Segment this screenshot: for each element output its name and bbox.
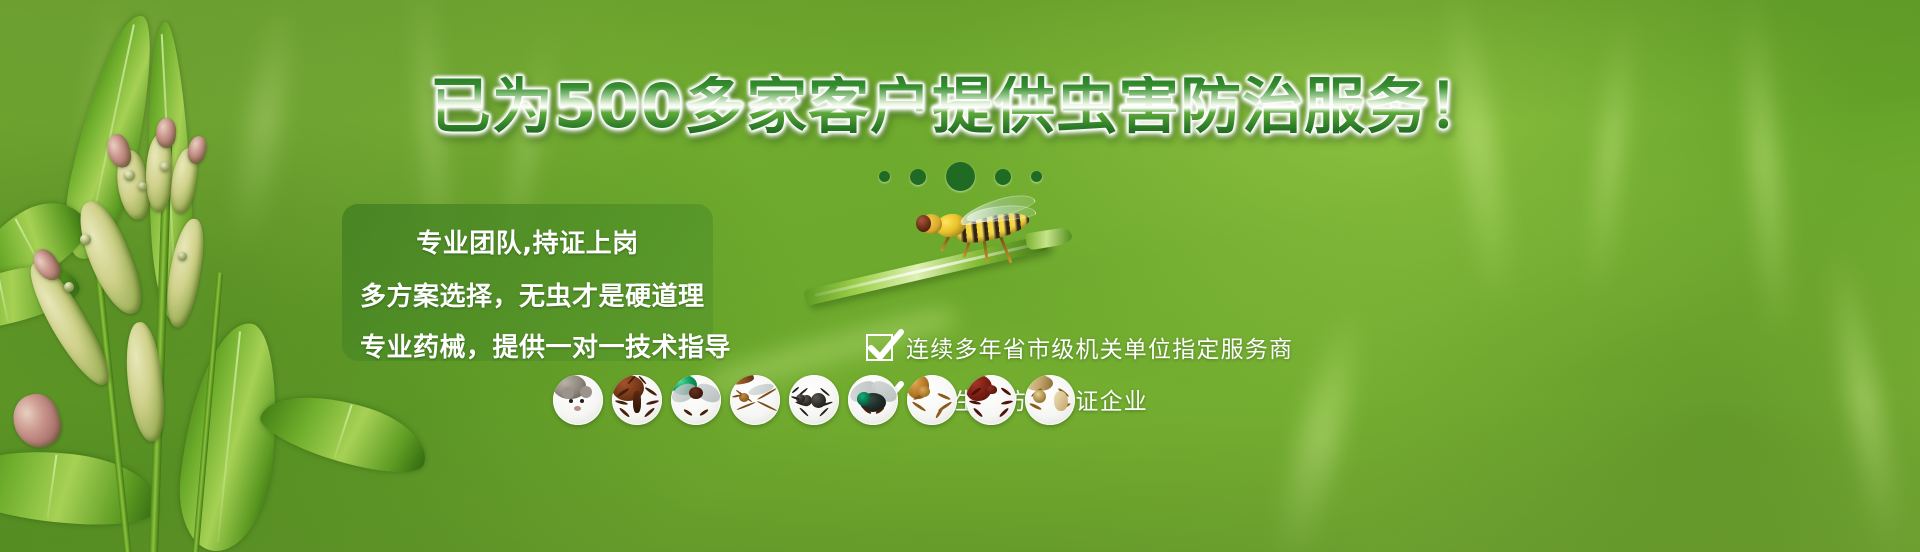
dot-small-left [879,171,890,182]
leaf-blade [803,234,1050,306]
checkbox-checked-icon [866,334,893,361]
green-fly-icon[interactable] [671,375,721,425]
selling-point-line-1: 专业团队,持证上岗 [360,231,695,257]
hoverfly-on-leaf-stem [790,196,1120,326]
leaf-blade-tip [1025,227,1073,251]
house-fly-icon[interactable] [848,375,898,425]
flea-icon[interactable] [907,375,957,425]
bed-bug-icon[interactable] [966,375,1016,425]
pest-type-icon-row [553,375,1075,425]
selling-points-box: 专业团队,持证上岗 多方案选择，无虫才是硬道理 专业药械，提供一对一技术指导 [342,204,713,361]
dot-medium-right [995,169,1011,185]
hoverfly-eye [916,215,931,232]
list-item: 连续多年省市级机关单位指定服务商 [866,330,1426,364]
ant-icon[interactable] [789,375,839,425]
pest-control-promo-banner: 已为500多家客户提供虫害防治服务！ 已为500多家客户提供虫害防治服务！ 专业… [0,0,1920,552]
mouse-icon[interactable] [553,375,603,425]
selling-point-line-3: 专业药械，提供一对一技术指导 [360,335,695,361]
mosquito-icon[interactable] [730,375,780,425]
dot-medium-left [910,169,926,185]
cockroach-icon[interactable] [612,375,662,425]
dot-large-center [946,162,975,191]
selling-point-line-2: 多方案选择，无虫才是硬道理 [360,284,695,310]
decorative-dot-row [0,162,1920,191]
certification-label: 连续多年省市级机关单位指定服务商 [906,330,1293,364]
termite-icon[interactable] [1025,375,1075,425]
dot-small-right [1031,171,1042,182]
